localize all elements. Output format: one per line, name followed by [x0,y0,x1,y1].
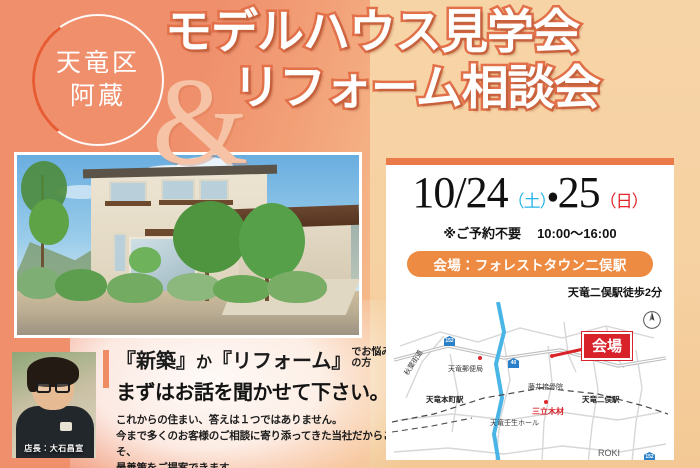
map-label-mibu-hall: 天竜壬生ホール [490,418,539,428]
map-label-tenryu-futamata-station: 天竜二俣駅 [582,394,620,405]
area-badge: 天竜区 阿蔵 [32,14,164,146]
event-subline: ※ご予約不要10:00〜16:00 [386,223,674,242]
main-title: & モデルハウス見学会 リフォーム相談会 [155,8,700,114]
title-line-1: モデルハウス見学会 [165,8,700,58]
photo-bush [129,247,161,273]
flyer-root: 天竜区 阿蔵 & モデルハウス見学会 リフォーム相談会 [0,0,700,468]
map-label-fujii-clinic: 藤井接骨院 [528,382,563,392]
sales-copy-block: 『新築』か『リフォーム』でお悩みの方 まずはお話を聞かせて下さい。 これからの住… [116,348,396,468]
map-poi [478,356,482,360]
map-label-sanritsu-mokuzai: 三立木材 [532,406,564,417]
photo-bush [107,273,163,303]
event-dow-sunday: （日） [600,192,648,211]
event-date-first: 10/24 [412,168,507,217]
staff-name-label: 店長：大石昌宣 [12,443,96,454]
copy-body: これからの住まい、答えは１つではありません。 今まで多くのお客様のご相談に寄り添… [116,412,396,468]
map-label-roki: ROKI [598,448,620,458]
map-label-tenryu-honmachi-station: 天竜本町駅 [426,394,464,405]
map-venue-marker: 会場 [582,332,632,360]
photo-bush [267,271,327,303]
event-dow-saturday: （土） [508,192,548,211]
map-poi [550,354,554,358]
copy-body-line-2: 今まで多くのお客様のご相談に寄り添ってきた当社だからこそ、 [116,428,396,461]
title-line-2: リフォーム相談会 [233,64,700,114]
walk-distance-note: 天竜二俣駅徒歩2分 [386,284,662,300]
copy-keyword-shinchiku: 『新築』 [116,349,196,373]
photo-bush [55,269,107,301]
copy-body-line-1: これからの住まい、答えは１つではありません。 [116,412,396,428]
photo-window [113,233,127,273]
venue-pill: 会場：フォレストタウン二俣駅 [407,251,653,277]
map-label-post-office: 天竜郵便局 [448,364,483,374]
event-date: 10/24（土）・25（日） [386,171,674,215]
venue-pill-label: 会場：フォレストタウン二俣駅 [433,254,626,274]
glasses-icon [55,382,70,393]
event-date-second: 25 [558,168,600,217]
copy-body-line-3: 最善策をご提案できます。 [116,460,396,468]
staff-photo: 店長：大石昌宣 [12,352,96,458]
area-badge-line2: 阿蔵 [70,80,126,113]
panel-top-bar [386,158,674,165]
copy-conjunction: か [196,353,212,372]
map-poi [544,400,548,404]
area-badge-line1: 天竜区 [56,47,140,80]
event-info-panel: 10/24（土）・25（日） ※ご予約不要10:00〜16:00 会場：フォレス… [386,158,674,460]
glasses-icon [36,382,51,393]
staff-name-tag [60,422,72,431]
copy-headline: まずはお話を聞かせて下さい。 [116,376,396,405]
event-hours: 10:00〜16:00 [537,226,617,241]
photo-tree [239,203,305,279]
photo-eave [105,201,151,206]
copy-keyword-reform: 『リフォーム』 [212,349,351,373]
photo-tree [173,201,247,273]
copy-accent-bar [103,350,109,388]
reservation-note: ※ご予約不要 [443,226,521,241]
access-map[interactable]: 会場 152 40 152 秋葉街道 天竜郵便局 天竜本町駅 天竜壬生ホール 藤… [392,302,668,460]
photo-window [109,181,147,203]
event-date-separator: ・ [547,178,558,215]
copy-line-1: 『新築』か『リフォーム』でお悩みの方 [116,348,396,372]
photo-tree [29,199,69,245]
map-vector-layer [392,302,668,460]
photo-bush [213,275,271,303]
north-arrow-icon [642,310,662,330]
